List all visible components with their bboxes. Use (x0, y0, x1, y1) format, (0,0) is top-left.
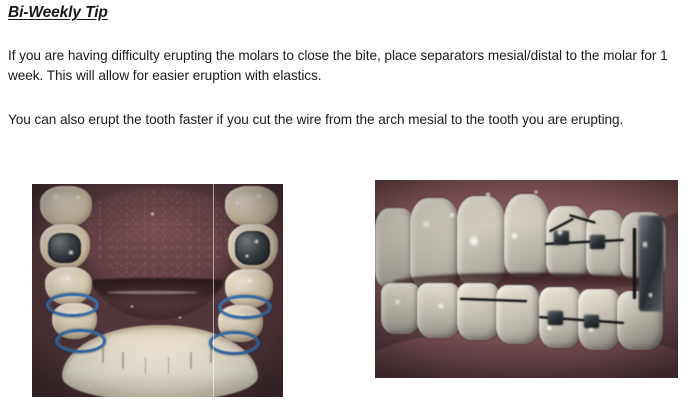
elastic-separator-1 (46, 293, 100, 317)
photo-content-right (375, 180, 678, 378)
molar-band (639, 216, 663, 311)
band-tube (633, 228, 636, 299)
elastic-separator-2 (55, 329, 106, 353)
tooth-lower-incisor-2 (417, 283, 459, 338)
incisor-separation (122, 352, 124, 369)
incisor-separation (102, 346, 104, 363)
tooth-upper-incisor-3 (457, 196, 505, 285)
bracket-upper-2 (590, 235, 605, 249)
bracket-upper-1 (554, 231, 569, 245)
scan-seam-line (213, 184, 214, 397)
buccal-lateral-photo (375, 180, 678, 378)
tooth-lower-incisor-3 (457, 283, 499, 340)
amalgam-restoration-left (48, 233, 81, 263)
tooth-lower-canine (496, 285, 538, 344)
bracket-lower-1 (548, 311, 563, 325)
elastic-separator-3 (218, 295, 272, 319)
tip-paragraph-1: If you are having difficulty erupting th… (8, 46, 673, 86)
document-page: Bi-Weekly Tip If you are having difficul… (0, 0, 689, 415)
photo-blur-layer-right (375, 180, 678, 378)
tooth-upper-canine (504, 194, 549, 277)
tooth-upper-incisor-1 (375, 208, 414, 287)
sublingual-highlight (107, 291, 197, 294)
page-title: Bi-Weekly Tip (8, 4, 108, 22)
mandibular-occlusal-photo (32, 184, 283, 397)
tooth-molar-left-1 (40, 186, 93, 226)
photo-blur-layer-left (32, 184, 283, 397)
photo-content-left (32, 184, 283, 397)
tooth-lower-incisor-1 (381, 283, 420, 334)
incisor-separation (168, 357, 170, 374)
tip-paragraph-2: You can also erupt the tooth faster if y… (8, 110, 673, 130)
tooth-molar-right-1 (225, 186, 278, 226)
amalgam-restoration-right (235, 231, 270, 265)
incisor-separation (190, 352, 192, 369)
bracket-lower-2 (584, 315, 599, 329)
